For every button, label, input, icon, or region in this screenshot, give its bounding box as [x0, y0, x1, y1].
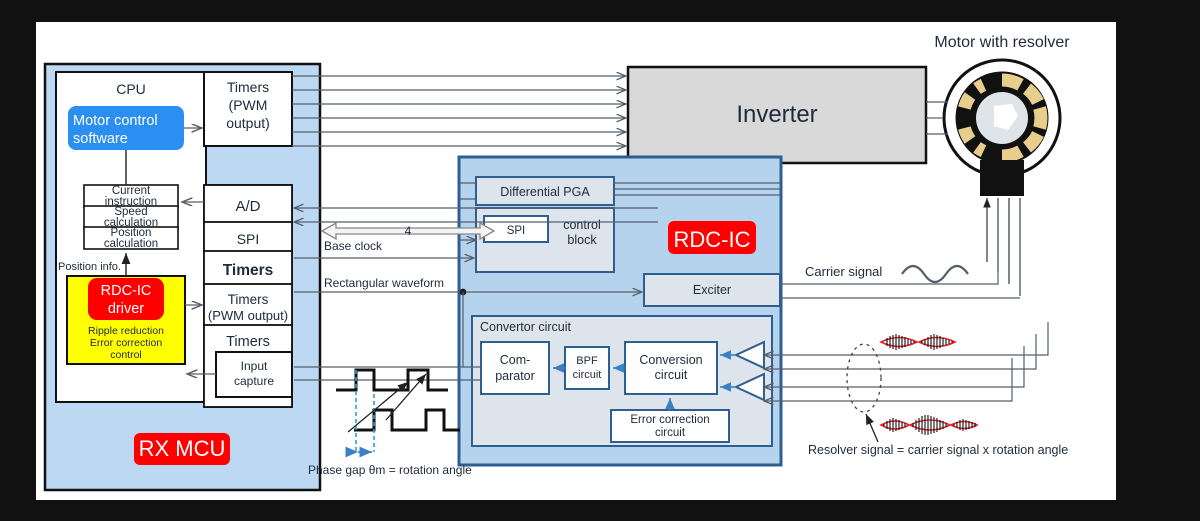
control-block-line2: block [567, 233, 597, 247]
error-correction-line2: circuit [655, 427, 686, 439]
motor-control-software-line1: Motor control [73, 113, 158, 129]
timers-pwm-top-line3: output) [226, 115, 270, 131]
carrier-signal-label: Carrier signal [805, 264, 882, 279]
base-clock-label: Base clock [324, 239, 383, 253]
driver-sub-line3: control [110, 349, 142, 361]
bus-width-label: 4 [405, 224, 412, 238]
driver-sub-line2: Error correction [90, 337, 163, 349]
block-diagram-svg: CPU Motor control software Current instr… [36, 22, 1116, 500]
resolver-signal-highlight [847, 344, 881, 412]
timers-pwm-top-line2: (PWM [229, 97, 268, 113]
resolver-waveform-upper [881, 334, 955, 350]
conversion-line1: Conversion [639, 353, 702, 367]
comparator-block [481, 342, 549, 394]
calc-position-line2: calculation [104, 238, 158, 250]
position-info-label: Position info. [58, 261, 121, 273]
peripheral-timers-label: Timers [223, 262, 274, 279]
peripheral-timers-pwm-line1: Timers [228, 292, 269, 307]
timers-pwm-top-line1: Timers [227, 79, 269, 95]
motor-terminal-box [980, 160, 1024, 196]
peripheral-timers-pwm-line2: (PWM output) [208, 308, 288, 323]
bpf-line2: circuit [573, 369, 602, 381]
cpu-label: CPU [116, 81, 146, 97]
diagram-canvas: CPU Motor control software Current instr… [36, 22, 1116, 500]
control-block-line1: control [563, 218, 601, 232]
resolver-signal-note: Resolver signal = carrier signal x rotat… [808, 443, 1068, 457]
input-capture-line1: Input [241, 359, 268, 373]
carrier-and-resolver: Carrier signal Resolver signal = carrier… [764, 198, 1068, 457]
convertor-circuit-title: Convertor circuit [480, 320, 572, 334]
peripheral-spi-label: SPI [237, 231, 260, 247]
rdc-ic-badge-label: RDC-IC [674, 227, 751, 252]
rdc-spi-label: SPI [507, 225, 526, 237]
screenshot-root: CPU Motor control software Current instr… [0, 0, 1200, 521]
motor-control-software-line2: software [73, 131, 128, 147]
conversion-line2: circuit [655, 368, 688, 382]
phase-gap-caption: Phase gap θm = rotation angle [308, 463, 472, 477]
inverter-block: Inverter [628, 67, 926, 163]
motor-label: Motor with resolver [934, 34, 1070, 51]
comparator-line2: parator [495, 369, 535, 383]
rdc-driver-line1: RDC-IC [101, 283, 152, 299]
phase-gap-waveform: Phase gap θm = rotation angle [308, 370, 472, 477]
rx-mcu-badge-label: RX MCU [139, 436, 226, 461]
driver-sub-line1: Ripple reduction [88, 325, 164, 337]
input-capture-line2: capture [234, 374, 274, 388]
rdc-driver-line2: driver [108, 301, 144, 317]
peripheral-ad-label: A/D [235, 198, 260, 215]
pwm-bus-lines [292, 76, 626, 146]
calc-stack: Current instruction Speed calculation Po… [84, 185, 178, 250]
resolver-waveform-lower [881, 415, 977, 435]
error-correction-line1: Error correction [630, 414, 709, 426]
peripheral-timers2-label: Timers [226, 334, 270, 350]
comparator-line1: Com- [500, 353, 531, 367]
differential-pga-label: Differential PGA [500, 185, 590, 199]
carrier-signal-waveform [902, 266, 968, 282]
rectangular-waveform-label: Rectangular waveform [324, 276, 444, 290]
exciter-label: Exciter [693, 283, 731, 297]
bpf-circuit-block [565, 347, 609, 389]
rdc-ic-panel: RDC-IC Differential PGA SPI control bloc… [459, 157, 781, 465]
bpf-line1: BPF [576, 355, 598, 367]
inverter-label: Inverter [736, 101, 817, 128]
